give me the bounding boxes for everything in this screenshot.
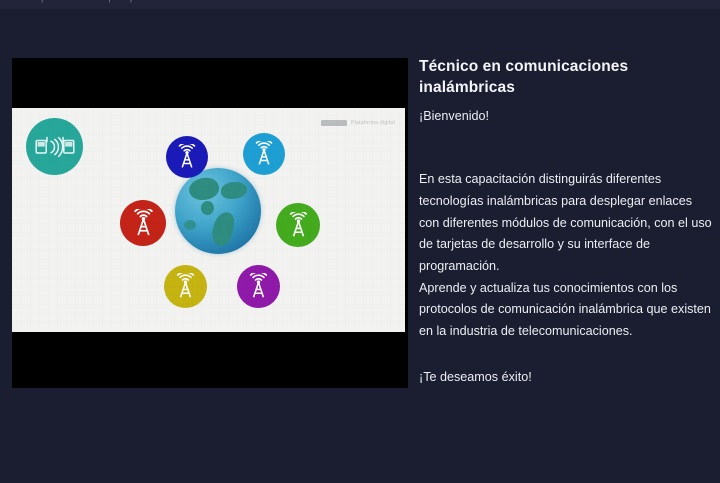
course-intro-video[interactable]: Plataforma digital bbox=[12, 58, 408, 388]
antenna-purple-icon bbox=[237, 265, 280, 308]
course-description-panel: Técnico en comunicaciones inalámbricas ¡… bbox=[419, 56, 714, 386]
globe-landmass bbox=[187, 175, 221, 204]
antenna-yellow-icon bbox=[164, 265, 207, 308]
page-root: Curso | Plataforma | Capacitación en lín… bbox=[0, 0, 720, 483]
slide-logo-caption: Plataforma digital bbox=[351, 120, 395, 126]
browser-chrome-ghost-text: Curso | Plataforma | Capacitación en lín… bbox=[6, 0, 229, 3]
browser-chrome-strip: Curso | Plataforma | Capacitación en lín… bbox=[0, 0, 720, 9]
antenna-red-icon bbox=[120, 200, 166, 246]
globe-landmass bbox=[184, 220, 196, 230]
slide-logo: Plataforma digital bbox=[321, 120, 395, 126]
walkie-talkie-radio-icon bbox=[26, 118, 83, 175]
welcome-greeting: ¡Bienvenido! bbox=[419, 108, 714, 126]
globe-landmass bbox=[221, 182, 247, 199]
antenna-cyan-icon bbox=[243, 133, 285, 175]
globe-landmass bbox=[201, 201, 214, 215]
antenna-blue-icon bbox=[166, 136, 208, 178]
closing-greeting: ¡Te deseamos éxito! bbox=[419, 369, 714, 387]
globe-landmass bbox=[210, 210, 237, 247]
antenna-green-icon bbox=[276, 203, 320, 247]
video-slide-frame: Plataforma digital bbox=[12, 108, 405, 332]
slide-logo-mark bbox=[321, 120, 347, 126]
course-description-body: En esta capacitación distinguirás difere… bbox=[419, 169, 714, 342]
course-title: Técnico en comunicaciones inalámbricas bbox=[419, 56, 714, 99]
world-globe-graphic bbox=[175, 168, 261, 254]
